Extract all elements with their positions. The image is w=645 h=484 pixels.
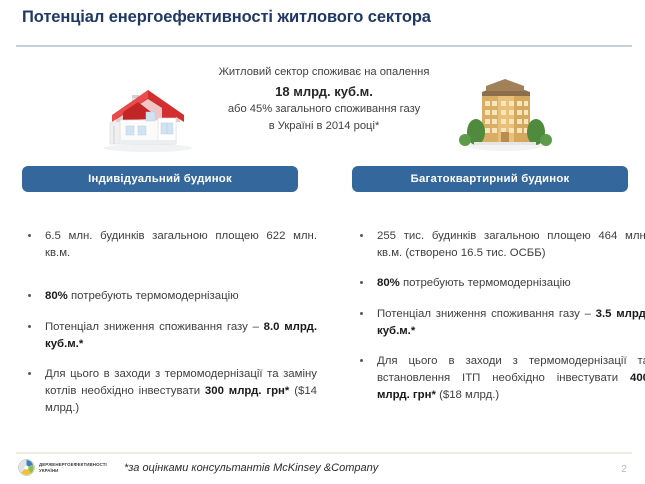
bullet-emphasis: 80% [377,277,400,289]
bullet-text: Для цього в заходи з термомодернізації т… [45,368,317,414]
bullet-dot-icon [28,294,31,297]
single-family-house-illustration [96,82,200,154]
bullet-item: Для цього в заходи з термомодернізації т… [20,366,317,418]
banner-apartment-building[interactable]: Багатоквартирний будинок [352,166,628,192]
bullet-item: Потенціал зниження споживання газу – 3.5… [352,306,645,340]
page-number: 2 [621,463,627,475]
bullet-dot-icon [28,325,31,328]
bullet-item: Для цього в заходи з термомодернізації т… [352,353,645,405]
intro-text-block: Житловий сектор споживає на опалення 18 … [186,64,462,136]
footer-divider [16,452,632,454]
bullet-text: Для цього в заходи з термомодернізації т… [377,355,645,401]
bullet-text: 6.5 млн. будинків загальною площею 622 м… [45,230,317,259]
bullet-item: 6.5 млн. будинків загальною площею 622 м… [20,228,317,262]
banner-apartment-building-label: Багатоквартирний будинок [411,173,570,185]
bullet-plain: ($18 млрд.) [436,389,499,401]
bullet-plain: 6.5 млн. будинків загальною площею 622 м… [45,230,317,259]
bullet-plain: Потенціал зниження споживання газу – [377,308,596,320]
bullet-text: 255 тис. будинків загальною площею 464 м… [377,230,645,259]
intro-line-4: в Україні в 2014 році* [186,118,462,136]
footnote-source: *за оцінками консультантів McKinsey &Com… [124,462,378,474]
bullet-dot-icon [360,312,363,315]
agency-logo-line-2: України [39,468,107,474]
title-divider [16,45,632,47]
bullet-dot-icon [360,359,363,362]
column-individual-house: 6.5 млн. будинків загальною площею 622 м… [20,228,317,418]
bullet-plain: Потенціал зниження споживання газу – [45,321,264,333]
bullet-item: 80% потребують термомодернізацію [352,275,645,292]
bullet-dot-icon [360,234,363,237]
intro-line-3: або 45% загального споживання газу [186,101,462,119]
bullet-emphasis: 80% [45,290,68,302]
agency-logo-text: Держенергоефективності України [39,462,107,473]
agency-logo: Держенергоефективності України [18,459,107,476]
slide-root: Потенціал енергоефективності житлового с… [0,0,645,484]
bullet-plain: 255 тис. будинків загальною площею 464 м… [377,230,645,259]
banner-individual-house[interactable]: Індивідуальний будинок [22,166,298,192]
intro-line-1: Житловий сектор споживає на опалення [186,64,462,82]
bullet-plain: потребують термомодернізацію [68,290,239,302]
bullet-dot-icon [28,372,31,375]
column-apartment-building: 255 тис. будинків загальною площею 464 м… [352,228,645,405]
bullet-plain: Для цього в заходи з термомодернізації т… [377,355,645,384]
bullet-plain: потребують термомодернізацію [400,277,571,289]
logo-emblem-icon [18,459,35,476]
bullet-item: 80% потребують термомодернізацію [20,288,317,305]
bullet-item: Потенціал зниження споживання газу – 8.0… [20,319,317,353]
bullet-dot-icon [360,281,363,284]
agency-logo-line-1: Держенергоефективності [39,462,107,468]
bullet-item: 255 тис. будинків загальною площею 464 м… [352,228,645,262]
bullet-text: 80% потребують термомодернізацію [45,290,239,302]
bullet-emphasis: 300 млрд. грн* [205,385,289,397]
bullet-text: 80% потребують термомодернізацію [377,277,571,289]
page-title: Потенціал енергоефективності житлового с… [22,8,431,27]
bullet-dot-icon [28,234,31,237]
bullet-text: Потенціал зниження споживання газу – 8.0… [45,321,317,350]
bullet-text: Потенціал зниження споживання газу – 3.5… [377,308,645,337]
apartment-building-illustration [452,70,558,154]
banner-individual-house-label: Індивідуальний будинок [88,173,232,185]
intro-highlight-value: 18 млрд. куб.м. [186,82,462,101]
